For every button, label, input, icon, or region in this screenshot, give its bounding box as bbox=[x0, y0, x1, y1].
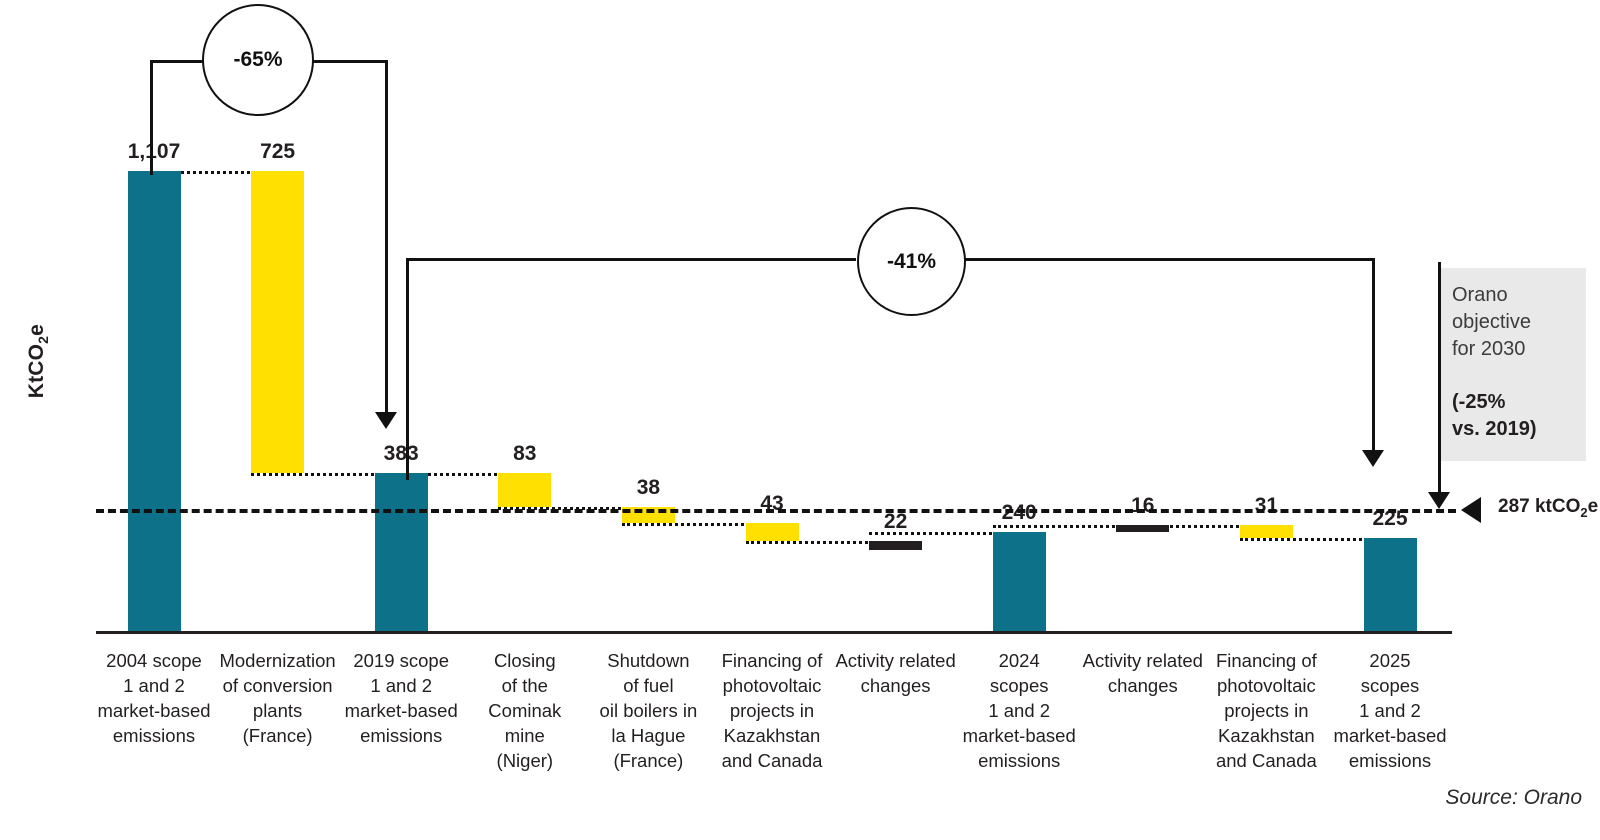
y-axis-subscript: 2 bbox=[35, 336, 51, 344]
category-label: 2004 scope1 and 2market-basedemissions bbox=[82, 648, 226, 748]
bar-value-label: 22 bbox=[836, 510, 956, 534]
bar-value-label: 16 bbox=[1083, 494, 1203, 518]
bar-decrease-9 bbox=[1240, 525, 1293, 538]
bar-total-10 bbox=[1364, 538, 1417, 632]
objective-stem bbox=[1438, 262, 1441, 494]
category-label: 2024scopes1 and 2market-basedemissions bbox=[947, 648, 1091, 773]
objective-line-3: for 2030 bbox=[1452, 336, 1574, 363]
bar-value-label: 31 bbox=[1206, 494, 1326, 518]
waterfall-chart: KtCO2e 1,107725383833843222401631225 200… bbox=[0, 0, 1600, 840]
bar-increase-8 bbox=[1116, 525, 1169, 532]
bar-decrease-1 bbox=[251, 171, 304, 473]
y-axis-title: KtCO2e bbox=[25, 301, 51, 421]
category-label: Modernizationof conversionplants(France) bbox=[206, 648, 350, 748]
bracket-41-top-right bbox=[963, 258, 1375, 261]
bracket-41-right-stem bbox=[1372, 258, 1375, 454]
bracket-65-arrowhead bbox=[375, 412, 397, 429]
bar-total-0 bbox=[128, 171, 181, 632]
objective-callout: Orano objective for 2030 (-25% vs. 2019) bbox=[1438, 268, 1586, 461]
delta-bubble-41-label: -41% bbox=[887, 250, 936, 274]
category-label: 2025scopes1 and 2market-basedemissions bbox=[1318, 648, 1462, 773]
target-arrowhead bbox=[1461, 497, 1481, 523]
category-label: Financing ofphotovoltaicprojects inKazak… bbox=[700, 648, 844, 773]
bar-value-label: 83 bbox=[465, 442, 585, 466]
delta-bubble-65-label: -65% bbox=[233, 48, 282, 72]
source-credit: Source: Orano bbox=[1445, 786, 1582, 810]
bracket-65-top-right bbox=[308, 60, 388, 63]
category-label: Shutdownof fueloil boilers inla Hague(Fr… bbox=[576, 648, 720, 773]
category-label: Activity relatedchanges bbox=[824, 648, 968, 698]
category-label: Closingof theCominakmine(Niger) bbox=[453, 648, 597, 773]
category-label: Financing ofphotovoltaicprojects inKazak… bbox=[1194, 648, 1338, 773]
bracket-65-right-stem bbox=[385, 60, 388, 415]
objective-reduction-2: vs. 2019) bbox=[1452, 416, 1574, 443]
bar-total-2 bbox=[375, 473, 428, 632]
target-value-label: 287 ktCO2e bbox=[1498, 496, 1598, 520]
objective-line-2: objective bbox=[1452, 309, 1574, 336]
category-label: 2019 scope1 and 2market-basedemissions bbox=[329, 648, 473, 748]
bar-decrease-3 bbox=[498, 473, 551, 508]
bracket-41-left-stem bbox=[406, 258, 409, 480]
delta-bubble-41: -41% bbox=[857, 207, 966, 316]
objective-line-1: Orano bbox=[1452, 282, 1574, 309]
objective-arrowhead bbox=[1428, 492, 1450, 509]
bracket-41-arrowhead bbox=[1362, 450, 1384, 467]
target-dashed-line bbox=[96, 509, 1456, 513]
delta-bubble-65: -65% bbox=[202, 4, 314, 116]
bar-value-label: 383 bbox=[341, 442, 461, 466]
x-axis-line bbox=[96, 631, 1452, 634]
bar-value-label: 240 bbox=[959, 501, 1079, 525]
bar-value-label: 38 bbox=[588, 476, 708, 500]
objective-reduction-1: (-25% bbox=[1452, 389, 1574, 416]
bar-decrease-6 bbox=[869, 541, 922, 550]
bracket-41-top-left bbox=[406, 258, 856, 261]
category-label: Activity relatedchanges bbox=[1071, 648, 1215, 698]
bracket-65-left-stem bbox=[150, 60, 153, 175]
bracket-65-top-left bbox=[150, 60, 208, 63]
bar-value-label: 1,107 bbox=[94, 140, 214, 164]
bar-decrease-5 bbox=[746, 523, 799, 541]
bar-total-7 bbox=[993, 532, 1046, 632]
bar-value-label: 725 bbox=[218, 140, 338, 164]
